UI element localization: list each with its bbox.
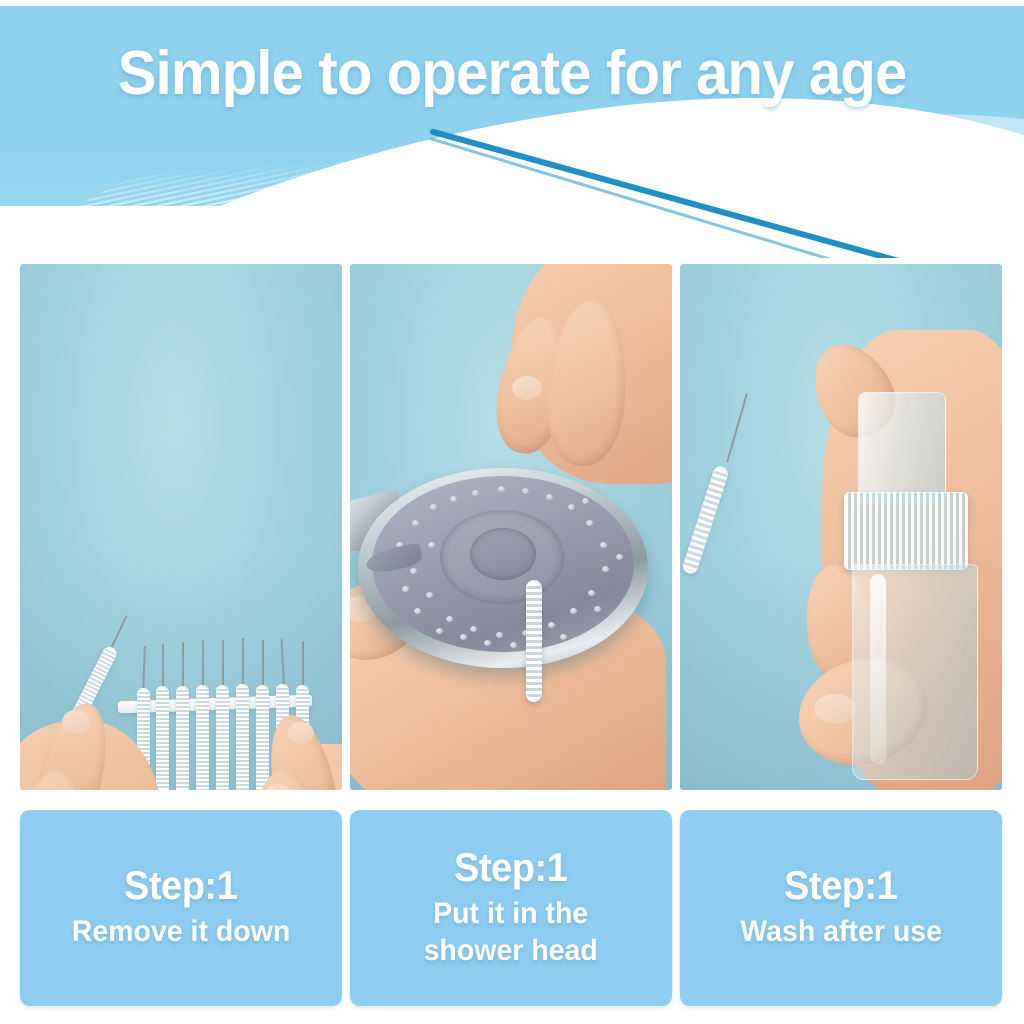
step-description: Remove it down — [72, 913, 291, 951]
brush-item — [256, 685, 269, 790]
page-title: Simple to operate for any age — [31, 38, 994, 109]
fingernail — [512, 376, 542, 400]
product-infographic: Simple to operate for any age — [0, 0, 1024, 1024]
fingernail — [288, 722, 314, 744]
brush-inserted — [526, 580, 542, 702]
photo-step-1-remove-brush — [20, 264, 342, 790]
caption-card-2: Step:1 Put it in the shower head — [350, 810, 672, 1006]
step-label: Step:1 — [784, 865, 897, 907]
caption-row: Step:1 Remove it down Step:1 Put it in t… — [20, 810, 1004, 1006]
step-description: Wash after use — [740, 913, 942, 951]
header-banner: Simple to operate for any age — [0, 0, 1024, 258]
brush-item — [216, 685, 229, 790]
brush-item — [196, 685, 209, 790]
fingernail — [62, 710, 90, 734]
step-label: Step:1 — [124, 865, 237, 907]
spray-bottle-cap — [858, 392, 946, 504]
step-description: Put it in the shower head — [424, 895, 598, 970]
photo-row — [20, 264, 1004, 790]
caption-card-1: Step:1 Remove it down — [20, 810, 342, 1006]
spray-bottle-highlight — [870, 574, 886, 764]
shower-head — [358, 462, 648, 674]
brush-item — [156, 686, 169, 790]
step-label: Step:1 — [454, 847, 567, 889]
brush-item — [176, 686, 189, 790]
shower-head-center-ring — [470, 528, 536, 580]
spray-bottle-collar — [844, 492, 968, 570]
spray-bottle — [830, 392, 1002, 790]
photo-step-2-insert-brush — [350, 264, 672, 790]
caption-card-3: Step:1 Wash after use — [680, 810, 1002, 1006]
brush-item — [236, 684, 249, 790]
photo-step-3-wash-after-use — [680, 264, 1002, 790]
